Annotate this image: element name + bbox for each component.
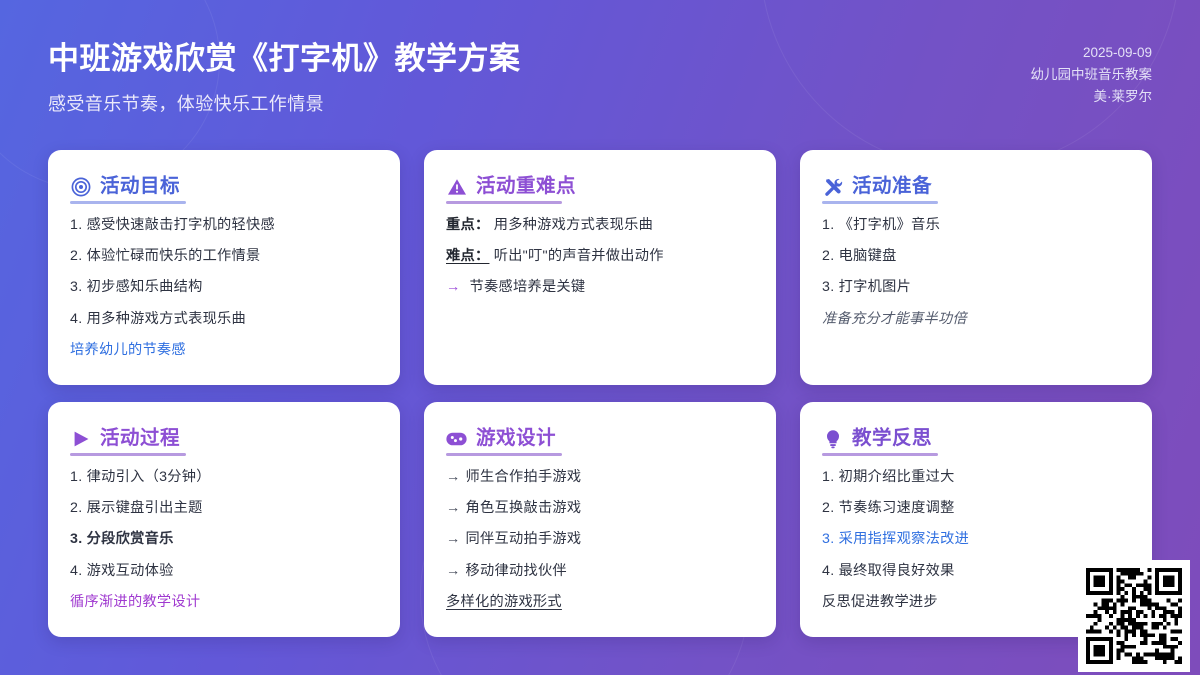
- arrow-bullet-icon: →: [446, 531, 461, 547]
- play-triangle-icon: [70, 428, 91, 449]
- list-item-text: 同伴互动拍手游戏: [466, 531, 582, 547]
- card-list-item: 4. 用多种游戏方式表现乐曲: [70, 312, 378, 326]
- card-list-item: 培养幼儿的节奏感: [70, 343, 378, 357]
- card-header: 游戏设计: [446, 428, 754, 456]
- card-list-item: 2. 体验忙碌而快乐的工作情景: [70, 249, 378, 263]
- arrow-bullet-icon: →: [446, 279, 461, 295]
- card-list-item: 3. 打字机图片: [822, 280, 1130, 294]
- card-preparation[interactable]: 活动准备1. 《打字机》音乐2. 电脑键盘3. 打字机图片准备充分才能事半功倍: [800, 150, 1152, 385]
- page-header: 中班游戏欣赏《打字机》教学方案 感受音乐节奏，体验快乐工作情景 2025-09-…: [48, 38, 1152, 116]
- meta-category: 幼儿园中班音乐教案: [1031, 64, 1153, 86]
- meta-composer: 美·莱罗尔: [1031, 86, 1153, 108]
- card-list-item: 1. 初期介绍比重过大: [822, 470, 1130, 484]
- arrow-bullet-icon: →: [446, 469, 461, 485]
- card-list-item: →师生合作拍手游戏: [446, 470, 754, 484]
- card-title: 活动目标: [100, 177, 180, 197]
- card-body: 1. 感受快速敲击打字机的轻快感2. 体验忙碌而快乐的工作情景3. 初步感知乐曲…: [70, 218, 378, 357]
- card-list-item: 3. 分段欣赏音乐: [70, 532, 378, 546]
- card-list-item: →同伴互动拍手游戏: [446, 532, 754, 546]
- card-body: 1. 《打字机》音乐2. 电脑键盘3. 打字机图片准备充分才能事半功倍: [822, 218, 1130, 326]
- card-title: 活动重难点: [476, 177, 576, 197]
- card-title: 活动准备: [852, 177, 932, 197]
- list-item-text: 节奏感培养是关键: [470, 279, 586, 295]
- gamepad-icon: [446, 428, 467, 449]
- card-header: 教学反思: [822, 428, 1130, 456]
- list-item-label: 难点：: [446, 248, 489, 264]
- list-item-text: 移动律动找伙伴: [466, 563, 567, 579]
- card-body: 重点： 用多种游戏方式表现乐曲难点： 听出"叮"的声音并做出动作→节奏感培养是关…: [446, 218, 754, 295]
- card-header: 活动过程: [70, 428, 378, 456]
- target-icon: [70, 176, 91, 197]
- card-list-item: →角色互换敲击游戏: [446, 501, 754, 515]
- card-key-difficulties[interactable]: 活动重难点重点： 用多种游戏方式表现乐曲难点： 听出"叮"的声音并做出动作→节奏…: [424, 150, 776, 385]
- list-item-label: 重点：: [446, 217, 489, 233]
- qr-code[interactable]: [1078, 560, 1190, 672]
- card-list-item: 2. 节奏练习速度调整: [822, 501, 1130, 515]
- list-item-text: 听出"叮"的声音并做出动作: [489, 248, 663, 264]
- lightbulb-icon: [822, 428, 843, 449]
- header-meta-block: 2025-09-09 幼儿园中班音乐教案 美·莱罗尔: [1031, 38, 1153, 108]
- card-list-item: →移动律动找伙伴: [446, 564, 754, 578]
- card-list-item: 循序渐进的教学设计: [70, 595, 378, 609]
- card-list-item: 多样化的游戏形式: [446, 595, 754, 609]
- card-body: →师生合作拍手游戏→角色互换敲击游戏→同伴互动拍手游戏→移动律动找伙伴多样化的游…: [446, 470, 754, 609]
- card-list-item: 1. 《打字机》音乐: [822, 218, 1130, 232]
- card-body: 1. 律动引入（3分钟）2. 展示键盘引出主题3. 分段欣赏音乐4. 游戏互动体…: [70, 470, 378, 609]
- card-list-item: 1. 感受快速敲击打字机的轻快感: [70, 218, 378, 232]
- list-item-text: 师生合作拍手游戏: [466, 469, 582, 485]
- header-title-block: 中班游戏欣赏《打字机》教学方案 感受音乐节奏，体验快乐工作情景: [48, 38, 521, 116]
- warning-triangle-icon: [446, 176, 467, 197]
- card-game-design[interactable]: 游戏设计→师生合作拍手游戏→角色互换敲击游戏→同伴互动拍手游戏→移动律动找伙伴多…: [424, 402, 776, 637]
- arrow-bullet-icon: →: [446, 563, 461, 579]
- arrow-bullet-icon: →: [446, 500, 461, 516]
- tools-icon: [822, 176, 843, 197]
- page-subtitle: 感受音乐节奏，体验快乐工作情景: [48, 90, 521, 116]
- card-list-item: 重点： 用多种游戏方式表现乐曲: [446, 218, 754, 232]
- card-list-item: 2. 展示键盘引出主题: [70, 501, 378, 515]
- card-list-item: 3. 初步感知乐曲结构: [70, 280, 378, 294]
- card-list-item: 难点： 听出"叮"的声音并做出动作: [446, 249, 754, 263]
- card-activity-goals[interactable]: 活动目标1. 感受快速敲击打字机的轻快感2. 体验忙碌而快乐的工作情景3. 初步…: [48, 150, 400, 385]
- card-title: 游戏设计: [476, 429, 556, 449]
- card-header: 活动目标: [70, 176, 378, 204]
- card-list-item: 4. 游戏互动体验: [70, 564, 378, 578]
- page-title: 中班游戏欣赏《打字机》教学方案: [48, 40, 521, 79]
- qr-code-image: [1086, 568, 1182, 664]
- card-list-item: 1. 律动引入（3分钟）: [70, 470, 378, 484]
- card-header: 活动重难点: [446, 176, 754, 204]
- card-list-item: 2. 电脑键盘: [822, 249, 1130, 263]
- card-title: 活动过程: [100, 429, 180, 449]
- card-list-item: →节奏感培养是关键: [446, 280, 754, 294]
- card-grid: 活动目标1. 感受快速敲击打字机的轻快感2. 体验忙碌而快乐的工作情景3. 初步…: [48, 150, 1152, 637]
- card-activity-process[interactable]: 活动过程1. 律动引入（3分钟）2. 展示键盘引出主题3. 分段欣赏音乐4. 游…: [48, 402, 400, 637]
- list-item-text: 角色互换敲击游戏: [466, 500, 582, 516]
- card-list-item: 3. 采用指挥观察法改进: [822, 532, 1130, 546]
- list-item-text: 用多种游戏方式表现乐曲: [489, 217, 653, 233]
- card-header: 活动准备: [822, 176, 1130, 204]
- meta-date: 2025-09-09: [1031, 42, 1153, 64]
- card-title: 教学反思: [852, 429, 932, 449]
- card-list-item: 准备充分才能事半功倍: [822, 312, 1130, 326]
